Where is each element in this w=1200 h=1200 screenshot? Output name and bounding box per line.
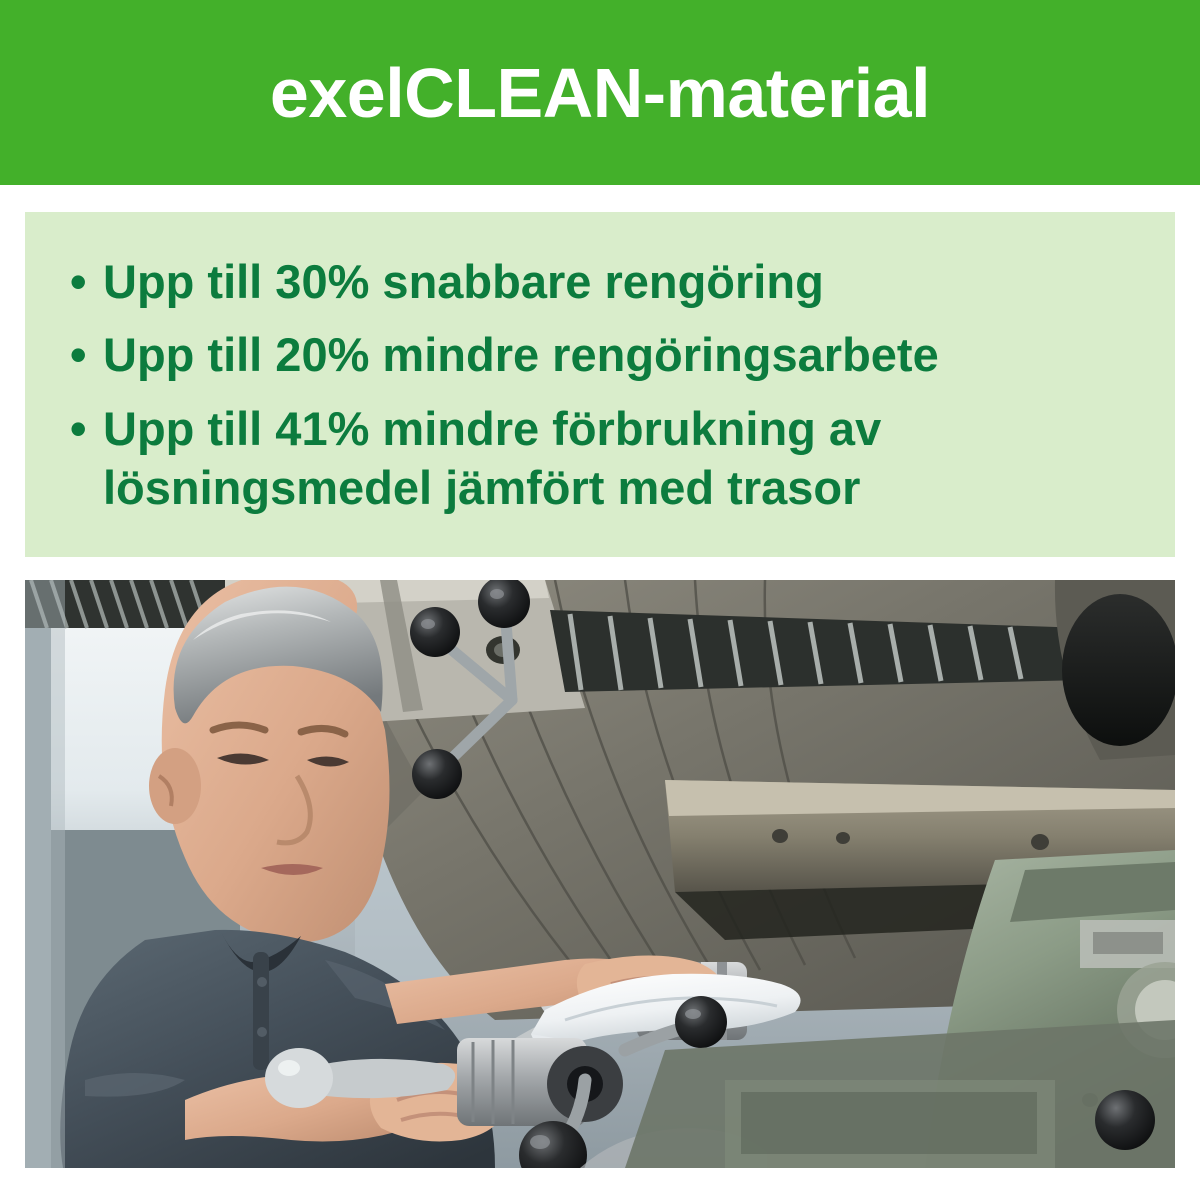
promo-page: exelCLEAN-material • Upp till 30% snabba… [0,0,1200,1200]
benefit-text: Upp till 41% mindre förbrukning av lösni… [103,399,1145,517]
bullet-icon: • [70,252,103,311]
hero-photo [25,580,1175,1168]
bullet-icon: • [70,399,103,458]
list-item: • Upp till 41% mindre förbrukning av lös… [70,399,1145,517]
bullet-icon: • [70,325,103,384]
benefit-text: Upp till 20% mindre rengöringsarbete [103,325,1145,384]
benefit-text: Upp till 30% snabbare rengöring [103,252,1145,311]
benefits-panel: • Upp till 30% snabbare rengöring • Upp … [25,212,1175,557]
page-title: exelCLEAN-material [270,58,930,128]
photo-illustration [25,580,1175,1168]
list-item: • Upp till 20% mindre rengöringsarbete [70,325,1145,384]
list-item: • Upp till 30% snabbare rengöring [70,252,1145,311]
header-banner: exelCLEAN-material [0,0,1200,185]
